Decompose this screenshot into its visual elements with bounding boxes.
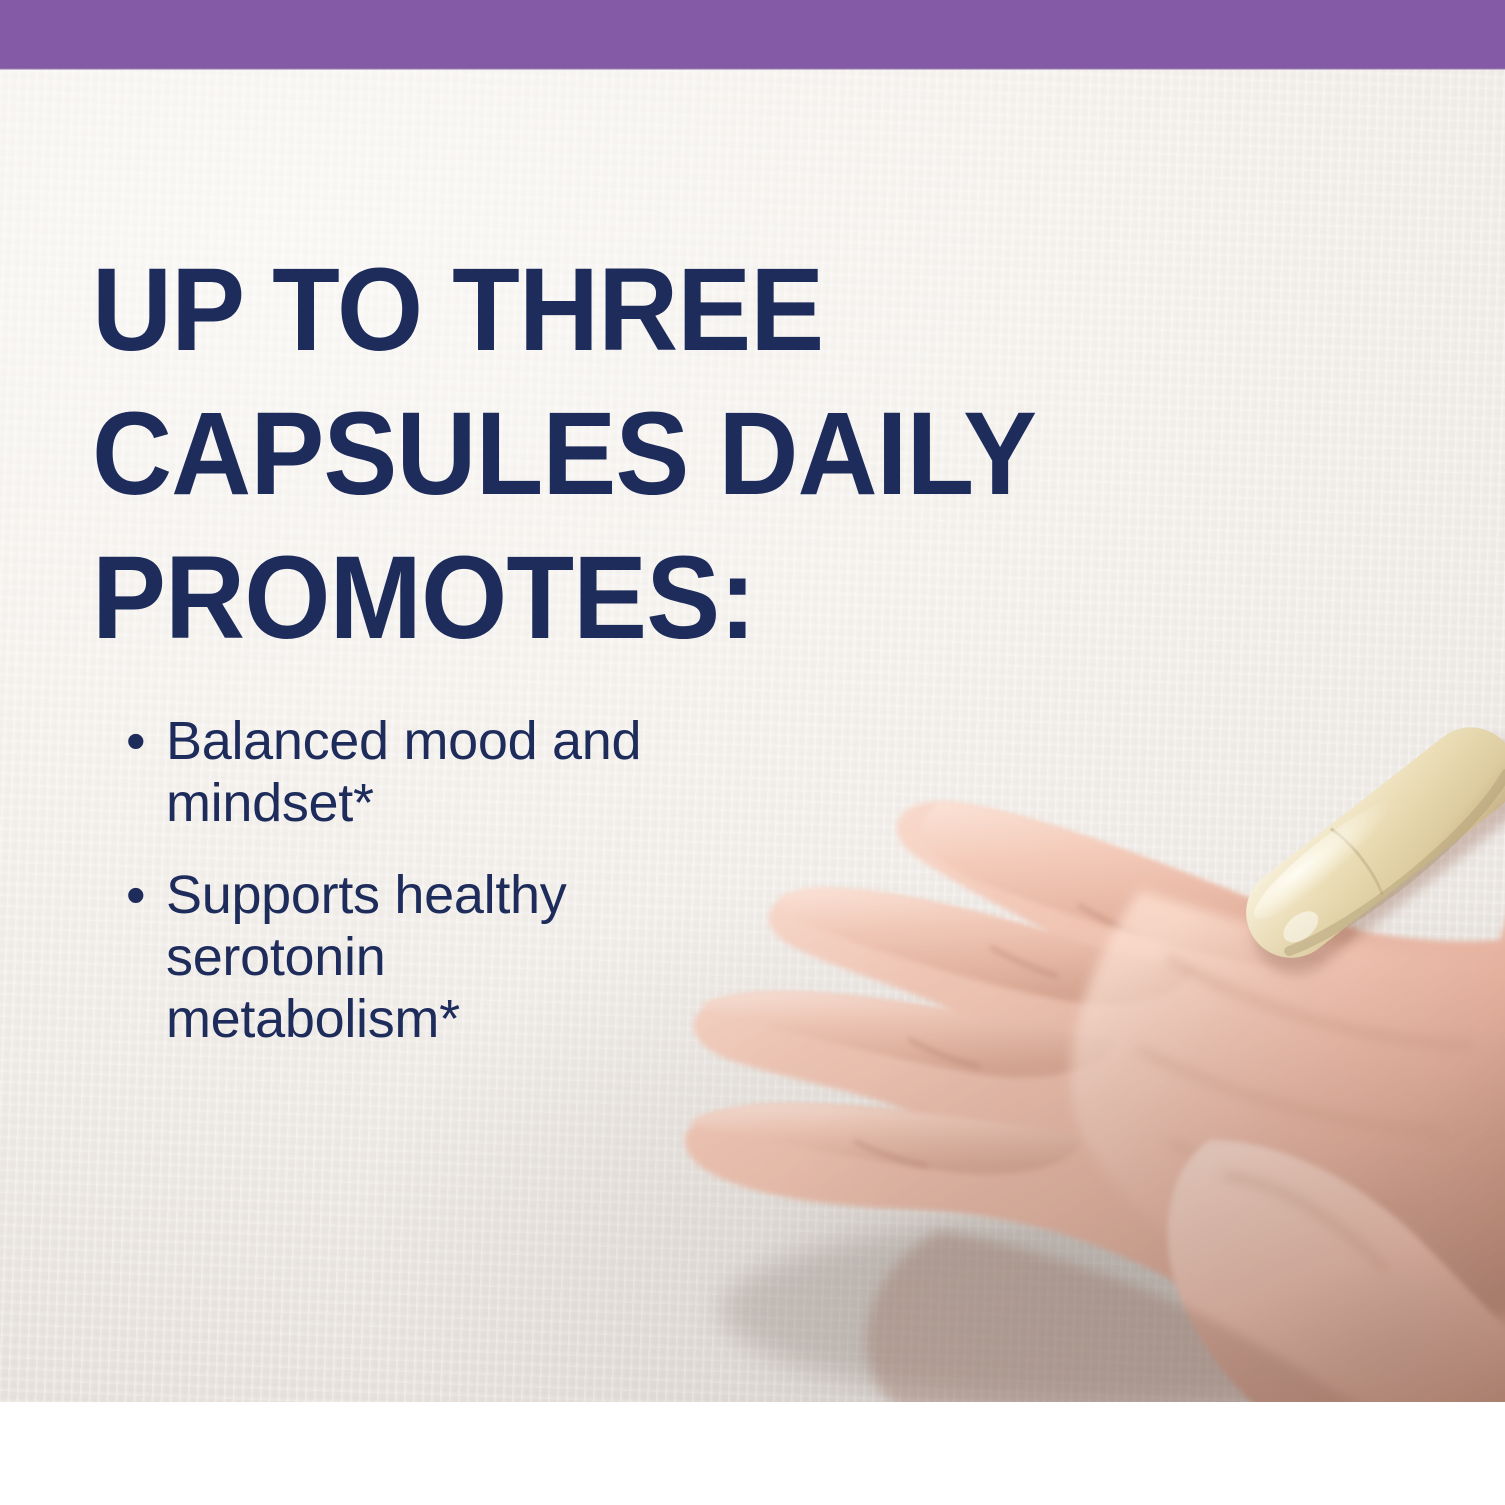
list-item: • Balanced mood and mindset* <box>118 710 678 834</box>
product-benefit-poster: UP TO THREE CAPSULES DAILY PROMOTES: • B… <box>0 0 1505 1505</box>
benefits-list: • Balanced mood and mindset* • Supports … <box>118 710 678 1080</box>
page-title: UP TO THREE CAPSULES DAILY PROMOTES: <box>92 238 1145 670</box>
list-item: • Supports healthy serotonin metabolism* <box>118 864 678 1050</box>
bullet-point-icon: • <box>118 864 166 926</box>
benefit-text: Balanced mood and mindset* <box>166 710 678 834</box>
photo-background: UP TO THREE CAPSULES DAILY PROMOTES: • B… <box>0 70 1505 1402</box>
footer-area: *These statements have not been evaluate… <box>0 1402 1505 1505</box>
brand-color-bar <box>0 0 1505 70</box>
bullet-point-icon: • <box>118 710 166 772</box>
benefit-text: Supports healthy serotonin metabolism* <box>166 864 678 1050</box>
